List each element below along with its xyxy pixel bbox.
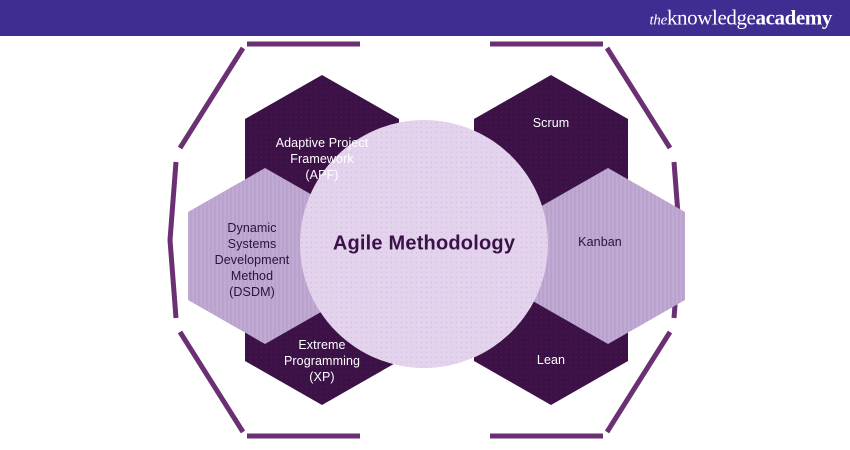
agile-methodology-diagram: Adaptive Project Framework (APF) Dynamic… xyxy=(0,36,850,450)
header-bar: theknowledgeacademy xyxy=(0,0,850,36)
diagram-svg xyxy=(0,36,850,450)
center-circle[interactable] xyxy=(300,120,548,368)
brand-logo-academy: academy xyxy=(755,6,832,30)
brand-logo[interactable]: theknowledgeacademy xyxy=(650,8,833,29)
brand-logo-the: the xyxy=(650,13,667,29)
brand-logo-knowledge: knowledge xyxy=(667,6,756,30)
